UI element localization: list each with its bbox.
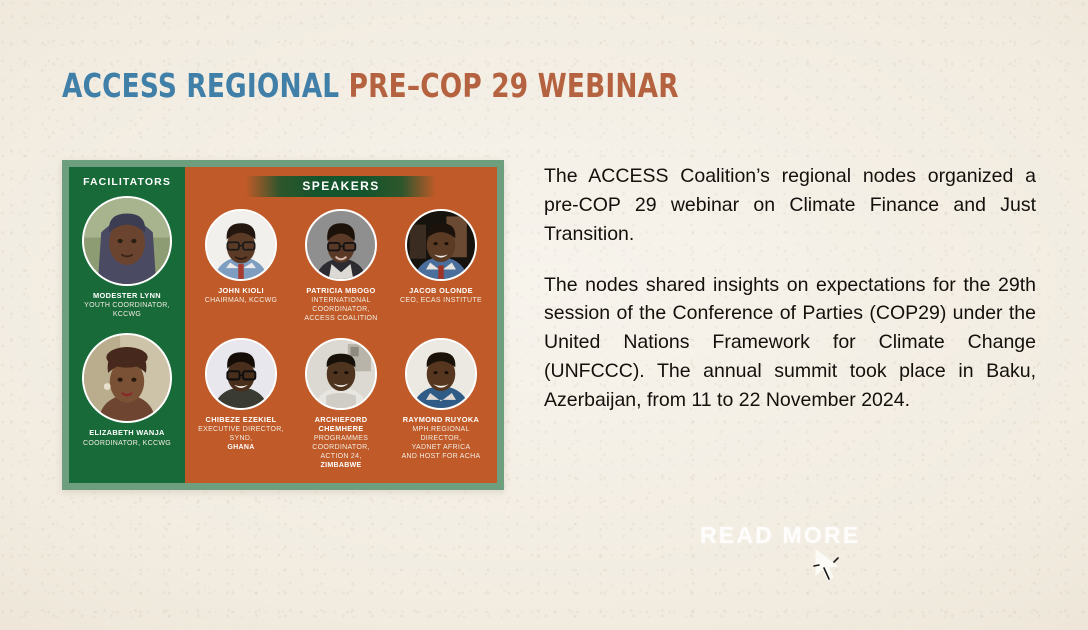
avatar xyxy=(405,338,477,410)
speakers-row: CHIBEZE EZEKIEL EXECUTIVE DIRECTOR, SYND… xyxy=(185,338,497,471)
speaker-card: JOHN KIOLI CHAIRMAN, KCCWG xyxy=(192,209,290,324)
avatar xyxy=(305,338,377,410)
facilitators-column: FACILITATORS MODESTER LYNN xyxy=(69,167,185,483)
person-name: CHIBEZE EZEKIEL xyxy=(206,415,277,424)
person-role: CEO, ECAS INSTITUTE xyxy=(400,296,482,305)
speaker-card: RAYMOND RUYOKA MPH.REGIONAL DIRECTOR, YA… xyxy=(392,338,490,471)
avatar xyxy=(405,209,477,281)
person-role-line: PROGRAMMES COORDINATOR, xyxy=(312,435,369,451)
avatar xyxy=(305,209,377,281)
speakers-heading: SPEAKERS xyxy=(246,176,435,197)
person-role: YOUTH COORDINATOR, KCCWG xyxy=(84,301,170,319)
page-title: ACCESS REGIONAL PRE–COP 29 WEBINAR xyxy=(62,66,679,105)
person-name: JOHN KIOLI xyxy=(218,286,264,295)
page-title-primary: ACCESS REGIONAL xyxy=(62,66,349,105)
avatar xyxy=(205,338,277,410)
person-name: JACOB OLONDE xyxy=(409,286,473,295)
person-role-country: ZIMBABWE xyxy=(321,462,362,469)
speakers-grid: JOHN KIOLI CHAIRMAN, KCCWG xyxy=(185,197,497,483)
person-role: MPH.REGIONAL DIRECTOR, YADNET AFRICA AND… xyxy=(392,425,490,461)
person-role: EXECUTIVE DIRECTOR, SYND, GHANA xyxy=(198,425,284,452)
person-role-line: EXECUTIVE DIRECTOR, xyxy=(198,426,284,433)
poster-inner: FACILITATORS MODESTER LYNN xyxy=(69,167,497,483)
person-role: COORDINATOR, KCCWG xyxy=(83,439,171,448)
body-paragraph-1: The ACCESS Coalition’s regional nodes or… xyxy=(544,162,1036,249)
person-name: MODESTER LYNN xyxy=(93,291,161,300)
person-role-line: ACTION 24, xyxy=(320,453,361,460)
speakers-column: SPEAKERS xyxy=(185,167,497,483)
page-title-accent: PRE–COP 29 WEBINAR xyxy=(349,66,679,105)
person-role-line: MPH.REGIONAL DIRECTOR, xyxy=(412,426,469,442)
person-role-line: KCCWG xyxy=(113,311,141,318)
article-body: The ACCESS Coalition’s regional nodes or… xyxy=(544,162,1036,415)
person-name: ELIZABETH WANJA xyxy=(89,428,164,437)
person-role-line: COORDINATOR, KCCWG xyxy=(83,440,171,447)
person-role-line: INTERNATIONAL xyxy=(311,297,370,304)
person-role: INTERNATIONAL COORDINATOR, ACCESS COALIT… xyxy=(304,296,377,323)
avatar xyxy=(82,333,172,423)
person-name: RAYMOND RUYOKA xyxy=(403,415,480,424)
person-name: ARCHIEFORD CHEMHERE xyxy=(292,415,390,434)
read-more-button[interactable]: READ MORE xyxy=(700,522,860,549)
person-role-line: ACCESS COALITION xyxy=(304,315,377,322)
mouse-cursor-icon xyxy=(812,548,854,586)
speaker-card: ARCHIEFORD CHEMHERE PROGRAMMES COORDINAT… xyxy=(292,338,390,471)
person-role: CHAIRMAN, KCCWG xyxy=(205,296,278,305)
person-role-country: GHANA xyxy=(227,444,254,451)
speaker-card: JACOB OLONDE CEO, ECAS INSTITUTE xyxy=(392,209,490,324)
person-role-line: YADNET AFRICA xyxy=(412,444,471,451)
person-name: PATRICIA MBOGO xyxy=(306,286,375,295)
avatar xyxy=(205,209,277,281)
speakers-row: JOHN KIOLI CHAIRMAN, KCCWG xyxy=(185,209,497,324)
person-role-line: COORDINATOR, xyxy=(312,306,369,313)
person-role-line: AND HOST FOR ACHA xyxy=(402,453,481,460)
person-role-line: SYND, xyxy=(230,435,253,442)
body-paragraph-2: The nodes shared insights on expectation… xyxy=(544,271,1036,415)
facilitators-heading: FACILITATORS xyxy=(83,176,171,188)
facilitator-card: MODESTER LYNN YOUTH COORDINATOR, KCCWG xyxy=(73,196,181,319)
person-role-line: CEO, ECAS INSTITUTE xyxy=(400,297,482,304)
facilitator-card: ELIZABETH WANJA COORDINATOR, KCCWG xyxy=(73,333,181,447)
person-role-line: YOUTH COORDINATOR, xyxy=(84,302,170,309)
speaker-card: PATRICIA MBOGO INTERNATIONAL COORDINATOR… xyxy=(292,209,390,324)
speaker-card: CHIBEZE EZEKIEL EXECUTIVE DIRECTOR, SYND… xyxy=(192,338,290,471)
person-role: PROGRAMMES COORDINATOR, ACTION 24, ZIMBA… xyxy=(292,434,390,470)
avatar xyxy=(82,196,172,286)
person-role-line: CHAIRMAN, KCCWG xyxy=(205,297,278,304)
webinar-poster-card[interactable]: FACILITATORS MODESTER LYNN xyxy=(62,160,504,490)
